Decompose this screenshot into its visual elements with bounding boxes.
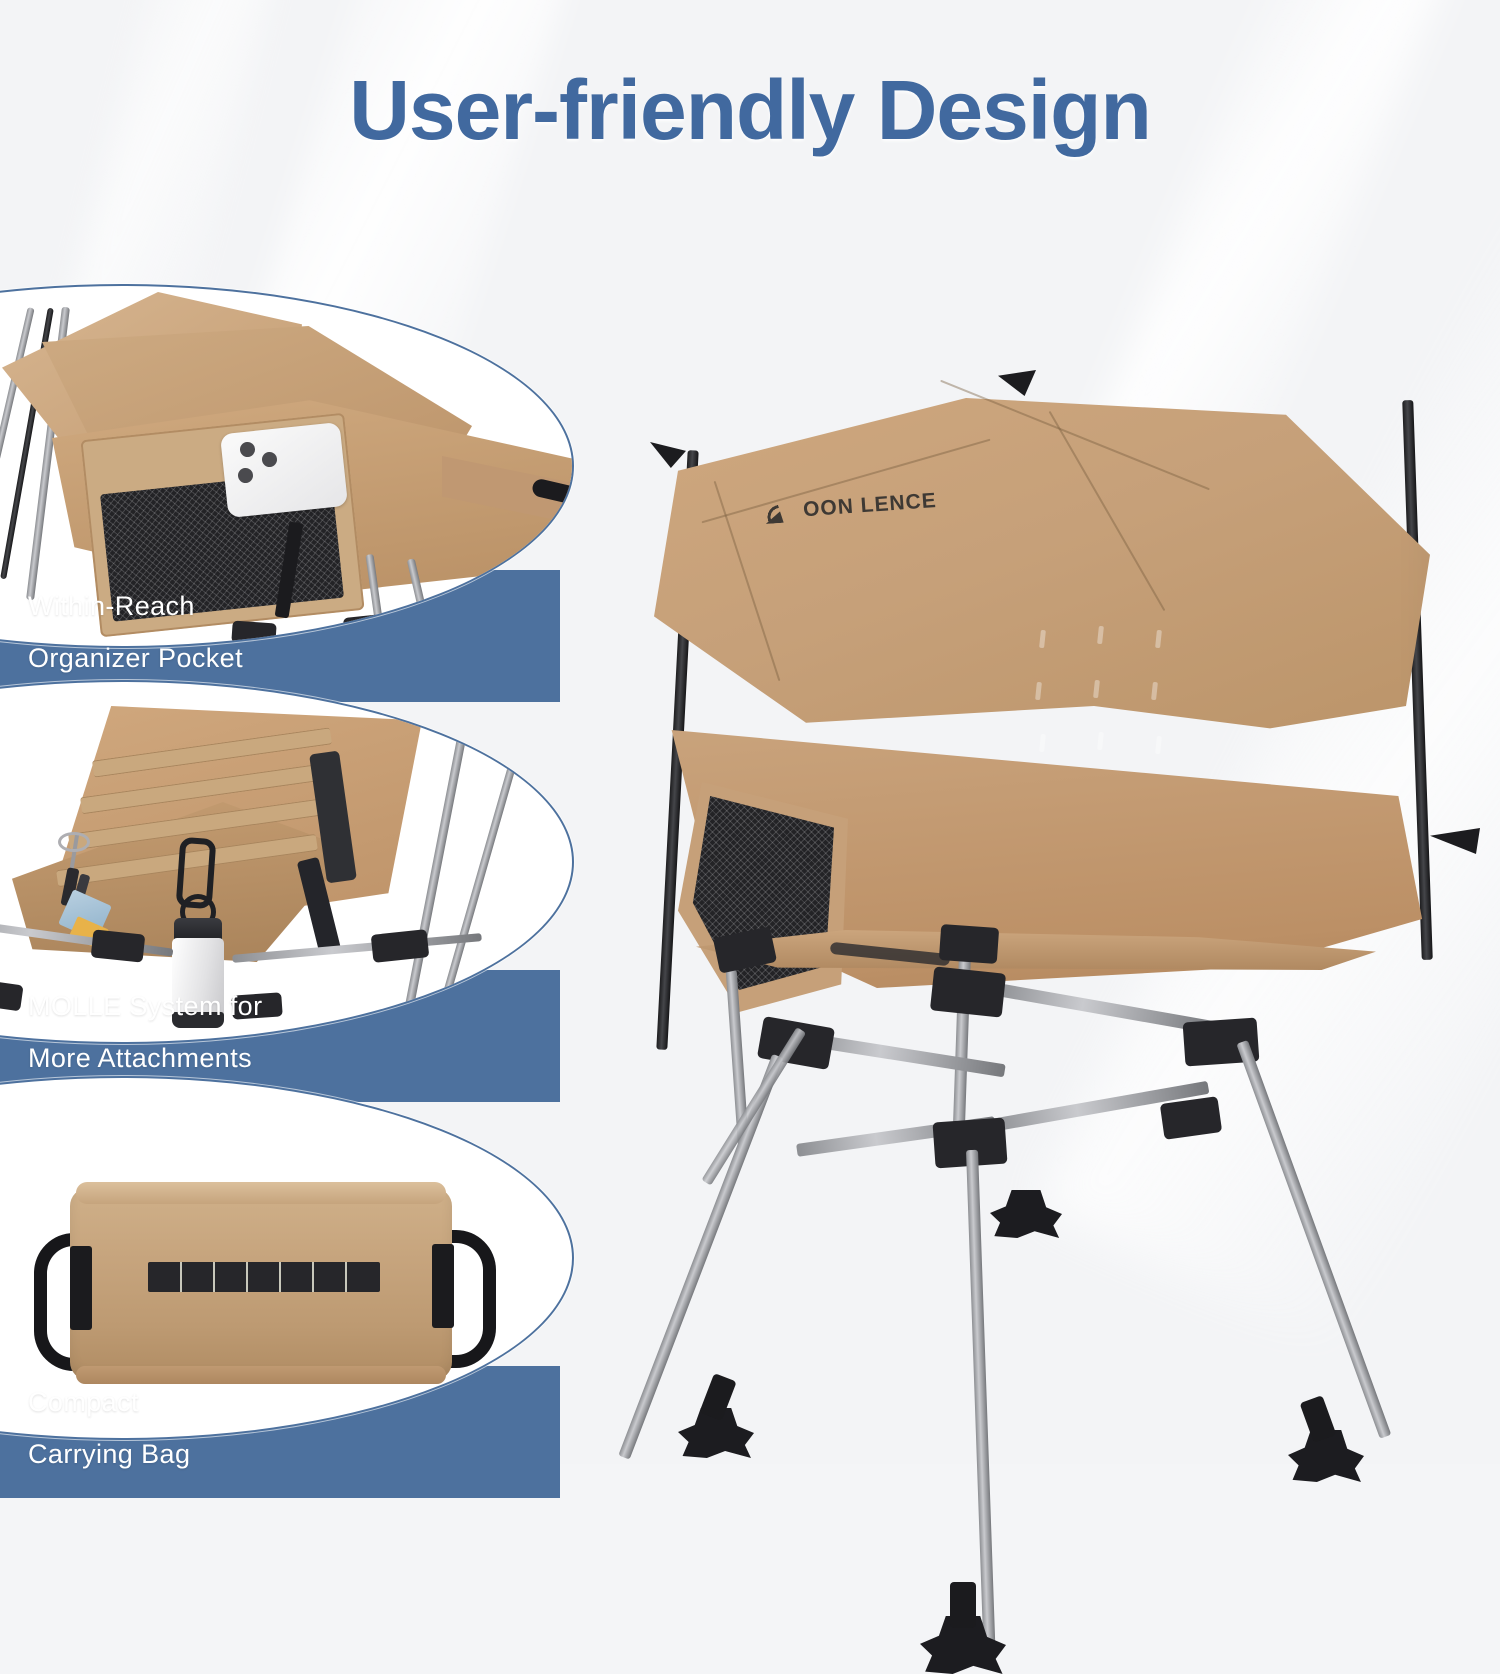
feature-list: Within-Reach Organizer Pocket — [0, 284, 620, 1464]
hub-connector — [939, 924, 999, 964]
caption-line-1: MOLLE System for — [28, 980, 262, 1032]
feature-molle-system: MOLLE System for More Attachments — [0, 680, 620, 1080]
caption-line-2: More Attachments — [28, 1032, 262, 1084]
chair-leg — [701, 1027, 806, 1185]
feature-caption-molle-system: MOLLE System for More Attachments — [28, 980, 262, 1084]
caption-line-2: Organizer Pocket — [28, 632, 243, 684]
caption-line-1: Within-Reach — [28, 580, 243, 632]
feature-caption-carrying-bag: Compact Carrying Bag — [28, 1376, 190, 1480]
hub-connector — [1160, 1096, 1222, 1140]
page-title: User-friendly Design — [0, 62, 1500, 159]
moon-mountain-icon — [764, 496, 800, 524]
ground-foot-icon — [990, 1190, 1062, 1238]
caption-line-2: Carrying Bag — [28, 1428, 190, 1480]
feature-caption-organizer-pocket: Within-Reach Organizer Pocket — [28, 580, 243, 684]
corner-tab-right-icon — [998, 370, 1036, 396]
chair-leg — [618, 1054, 783, 1460]
feature-carrying-bag: Compact Carrying Bag — [0, 1076, 620, 1476]
chair-leg — [1236, 1040, 1391, 1439]
hero-product-image: OON LENCE — [600, 330, 1500, 1464]
corner-tab-left-icon — [650, 442, 686, 468]
corner-tab-far-right-icon — [1430, 828, 1480, 854]
feature-organizer-pocket: Within-Reach Organizer Pocket — [0, 284, 620, 684]
hub-connector — [930, 966, 1006, 1017]
caption-line-1: Compact — [28, 1376, 190, 1428]
